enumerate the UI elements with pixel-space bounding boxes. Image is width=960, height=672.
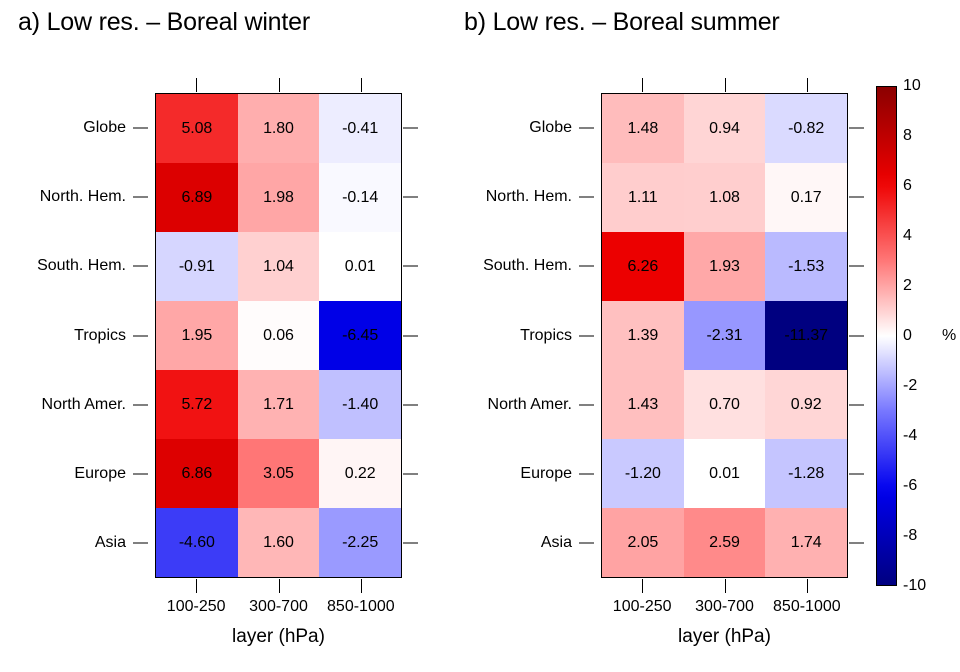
heatmap-cell: 1.71: [238, 370, 320, 439]
heatmap-cell: 0.01: [684, 439, 766, 508]
panel-a: a) Low res. – Boreal winter GlobeNorth. …: [0, 0, 470, 672]
heatmap-cell-value: -11.37: [784, 328, 828, 344]
x-axis-tick-bottom: [279, 579, 280, 593]
heatmap-cell: -0.41: [319, 94, 401, 163]
colorbar-tick-label: -2: [903, 377, 917, 395]
colorbar-tick-label: -6: [903, 477, 917, 495]
heatmap-cell: 1.11: [602, 163, 684, 232]
y-axis-tick-right: [849, 543, 864, 544]
heatmap-cell-value: 1.93: [709, 259, 740, 275]
y-axis-tick-right: [403, 196, 418, 197]
heatmap-cell-value: -1.53: [788, 259, 824, 275]
heatmap-cell-value: 5.72: [181, 397, 212, 413]
x-axis-tick-top: [807, 78, 808, 92]
heatmap-cell: -0.14: [319, 163, 401, 232]
heatmap-cell-value: 1.48: [627, 121, 658, 137]
panel-a-title: a) Low res. – Boreal winter: [18, 8, 310, 37]
panel-a-row-labels: GlobeNorth. Hem.South. Hem.TropicsNorth …: [8, 93, 148, 578]
heatmap-cell-value: -0.82: [788, 121, 824, 137]
heatmap-cell-value: 1.11: [628, 190, 658, 206]
row-label-north-hem: North. Hem.: [40, 188, 126, 206]
heatmap-cell: 0.22: [319, 439, 401, 508]
x-axis-tick-bottom: [725, 579, 726, 593]
panel-b: b) Low res. – Boreal summer GlobeNorth. …: [446, 0, 916, 672]
heatmap-cell: 2.59: [684, 508, 766, 577]
panel-a-top-ticks: [155, 78, 402, 92]
heatmap-cell: -1.40: [319, 370, 401, 439]
panel-a-bottom-ticks: [155, 579, 402, 593]
y-axis-tick-right: [403, 266, 418, 267]
heatmap-cell: -2.31: [684, 301, 766, 370]
heatmap-cell: 1.39: [602, 301, 684, 370]
colorbar-tick-label: -10: [903, 577, 926, 595]
heatmap-cell: 0.94: [684, 94, 766, 163]
heatmap-cell-value: 0.01: [345, 259, 376, 275]
panel-a-heatmap-grid: 5.081.80-0.416.891.98-0.14-0.911.040.011…: [155, 93, 402, 578]
heatmap-cell: -1.20: [602, 439, 684, 508]
x-axis-tick-bottom: [642, 579, 643, 593]
heatmap-cell: -0.91: [156, 232, 238, 301]
colorbar-tick-label: 4: [903, 227, 912, 245]
colorbar-tick-label: -8: [903, 527, 917, 545]
x-axis-tick-label: 100-250: [613, 598, 672, 616]
colorbar-gradient: [876, 86, 897, 586]
x-axis-tick-top: [725, 78, 726, 92]
heatmap-cell-value: 1.08: [709, 190, 740, 206]
heatmap-cell: 1.95: [156, 301, 238, 370]
row-label-europe: Europe: [520, 465, 572, 483]
colorbar-tick-label: 6: [903, 177, 912, 195]
heatmap-cell: -1.53: [765, 232, 847, 301]
panel-b-title: b) Low res. – Boreal summer: [464, 8, 780, 37]
heatmap-cell: 1.60: [238, 508, 320, 577]
heatmap-cell-value: 0.92: [791, 397, 822, 413]
heatmap-cell-value: 1.43: [627, 397, 658, 413]
panel-b-row-labels: GlobeNorth. Hem.South. Hem.TropicsNorth …: [454, 93, 594, 578]
panel-b-x-axis-title: layer (hPa): [601, 626, 848, 648]
row-label-asia: Asia: [541, 534, 572, 552]
panel-b-heatmap-grid: 1.480.94-0.821.111.080.176.261.93-1.531.…: [601, 93, 848, 578]
panel-a-column-labels: 100-250300-700850-1000: [155, 598, 402, 620]
heatmap-cell: 1.48: [602, 94, 684, 163]
heatmap-cell: 5.72: [156, 370, 238, 439]
colorbar-tick-label: 10: [903, 77, 921, 95]
y-axis-tick-right: [849, 404, 864, 405]
heatmap-cell: -11.37: [765, 301, 847, 370]
y-axis-tick-right: [849, 196, 864, 197]
x-axis-tick-top: [279, 78, 280, 92]
row-label-tropics: Tropics: [74, 327, 126, 345]
colorbar-tick-label: 2: [903, 277, 912, 295]
heatmap-cell-value: 6.86: [181, 466, 212, 482]
heatmap-cell: -4.60: [156, 508, 238, 577]
colorbar-tick-label: -4: [903, 427, 917, 445]
heatmap-cell-value: 1.71: [263, 397, 294, 413]
heatmap-cell-value: 6.26: [627, 259, 658, 275]
x-axis-tick-bottom: [196, 579, 197, 593]
heatmap-cell-value: 0.94: [709, 121, 740, 137]
row-label-north-amer: North Amer.: [42, 396, 126, 414]
row-label-asia: Asia: [95, 534, 126, 552]
heatmap-cell: -6.45: [319, 301, 401, 370]
panel-b-top-ticks: [601, 78, 848, 92]
y-axis-tick: [579, 266, 594, 267]
panel-b-right-ticks: [849, 93, 865, 578]
y-axis-tick-right: [403, 127, 418, 128]
row-label-south-hem: South. Hem.: [37, 257, 126, 275]
heatmap-cell-value: 0.17: [791, 190, 822, 206]
panel-b-bottom-ticks: [601, 579, 848, 593]
y-axis-tick-right: [849, 127, 864, 128]
heatmap-cell-value: 0.06: [263, 328, 294, 344]
heatmap-cell-value: 1.60: [263, 535, 294, 551]
panel-b-column-labels: 100-250300-700850-1000: [601, 598, 848, 620]
heatmap-cell-value: 0.70: [709, 397, 740, 413]
heatmap-cell: 1.04: [238, 232, 320, 301]
heatmap-cell: 6.26: [602, 232, 684, 301]
y-axis-tick: [133, 196, 148, 197]
panel-a-plot-area: 5.081.80-0.416.891.98-0.14-0.911.040.011…: [155, 93, 402, 578]
x-axis-tick-top: [642, 78, 643, 92]
heatmap-cell: 1.08: [684, 163, 766, 232]
x-axis-tick-bottom: [361, 579, 362, 593]
colorbar-unit-label: %: [942, 327, 956, 345]
heatmap-cell-value: -0.41: [342, 121, 378, 137]
y-axis-tick-right: [849, 266, 864, 267]
heatmap-cell: -2.25: [319, 508, 401, 577]
y-axis-tick: [579, 196, 594, 197]
heatmap-cell: 2.05: [602, 508, 684, 577]
heatmap-cell: -1.28: [765, 439, 847, 508]
y-axis-tick-right: [403, 404, 418, 405]
y-axis-tick: [133, 266, 148, 267]
panel-b-plot-area: 1.480.94-0.821.111.080.176.261.93-1.531.…: [601, 93, 848, 578]
heatmap-cell-value: -1.40: [342, 397, 378, 413]
heatmap-cell: 1.80: [238, 94, 320, 163]
heatmap-cell: 1.93: [684, 232, 766, 301]
y-axis-tick: [579, 335, 594, 336]
y-axis-tick: [133, 404, 148, 405]
panel-a-x-axis-title: layer (hPa): [155, 626, 402, 648]
colorbar-tick-label: 0: [903, 327, 912, 345]
row-label-south-hem: South. Hem.: [483, 257, 572, 275]
heatmap-cell-value: -1.20: [625, 466, 661, 482]
heatmap-cell-value: -1.28: [788, 466, 824, 482]
y-axis-tick-right: [849, 474, 864, 475]
heatmap-cell: 6.86: [156, 439, 238, 508]
heatmap-cell-value: -2.31: [707, 328, 743, 344]
y-axis-tick: [133, 335, 148, 336]
x-axis-tick-label: 300-700: [249, 598, 308, 616]
x-axis-tick-label: 850-1000: [327, 598, 395, 616]
figure-root: a) Low res. – Boreal winter GlobeNorth. …: [0, 0, 960, 672]
heatmap-cell: 0.70: [684, 370, 766, 439]
x-axis-tick-bottom: [807, 579, 808, 593]
heatmap-cell-value: 0.01: [709, 466, 740, 482]
y-axis-tick: [133, 127, 148, 128]
heatmap-cell-value: 1.39: [627, 328, 658, 344]
heatmap-cell: 6.89: [156, 163, 238, 232]
heatmap-cell: 3.05: [238, 439, 320, 508]
row-label-globe: Globe: [529, 119, 572, 137]
y-axis-tick: [579, 474, 594, 475]
heatmap-cell-value: -4.60: [179, 535, 215, 551]
row-label-north-hem: North. Hem.: [486, 188, 572, 206]
heatmap-cell-value: 2.05: [627, 535, 658, 551]
row-label-europe: Europe: [74, 465, 126, 483]
x-axis-tick-top: [196, 78, 197, 92]
heatmap-cell-value: 2.59: [709, 535, 740, 551]
heatmap-cell-value: 3.05: [263, 466, 294, 482]
x-axis-tick-label: 850-1000: [773, 598, 841, 616]
heatmap-cell: 0.06: [238, 301, 320, 370]
panel-a-right-ticks: [403, 93, 419, 578]
heatmap-cell: 1.74: [765, 508, 847, 577]
y-axis-tick-right: [403, 335, 418, 336]
heatmap-cell-value: 5.08: [181, 121, 212, 137]
y-axis-tick: [133, 474, 148, 475]
heatmap-cell: 1.98: [238, 163, 320, 232]
x-axis-tick-label: 100-250: [167, 598, 226, 616]
heatmap-cell: 0.01: [319, 232, 401, 301]
y-axis-tick-right: [403, 543, 418, 544]
heatmap-cell: 5.08: [156, 94, 238, 163]
y-axis-tick-right: [403, 474, 418, 475]
heatmap-cell-value: -0.91: [179, 259, 215, 275]
heatmap-cell-value: 1.80: [263, 121, 294, 137]
heatmap-cell: 0.92: [765, 370, 847, 439]
heatmap-cell-value: 1.04: [263, 259, 294, 275]
heatmap-cell-value: 6.89: [181, 190, 212, 206]
row-label-tropics: Tropics: [520, 327, 572, 345]
y-axis-tick: [133, 543, 148, 544]
y-axis-tick: [579, 127, 594, 128]
y-axis-tick: [579, 404, 594, 405]
heatmap-cell-value: 1.98: [263, 190, 294, 206]
colorbar-tick-label: 8: [903, 127, 912, 145]
y-axis-tick-right: [849, 335, 864, 336]
heatmap-cell: 0.17: [765, 163, 847, 232]
row-label-north-amer: North Amer.: [488, 396, 572, 414]
heatmap-cell-value: -2.25: [342, 535, 378, 551]
heatmap-cell-value: 1.95: [181, 328, 212, 344]
heatmap-cell-value: 0.22: [345, 466, 376, 482]
heatmap-cell-value: 1.74: [791, 535, 822, 551]
heatmap-cell-value: -6.45: [342, 328, 378, 344]
heatmap-cell: 1.43: [602, 370, 684, 439]
y-axis-tick: [579, 543, 594, 544]
x-axis-tick-top: [361, 78, 362, 92]
row-label-globe: Globe: [83, 119, 126, 137]
x-axis-tick-label: 300-700: [695, 598, 754, 616]
heatmap-cell: -0.82: [765, 94, 847, 163]
colorbar: % 1086420-2-4-6-8-10: [876, 86, 960, 586]
heatmap-cell-value: -0.14: [342, 190, 378, 206]
